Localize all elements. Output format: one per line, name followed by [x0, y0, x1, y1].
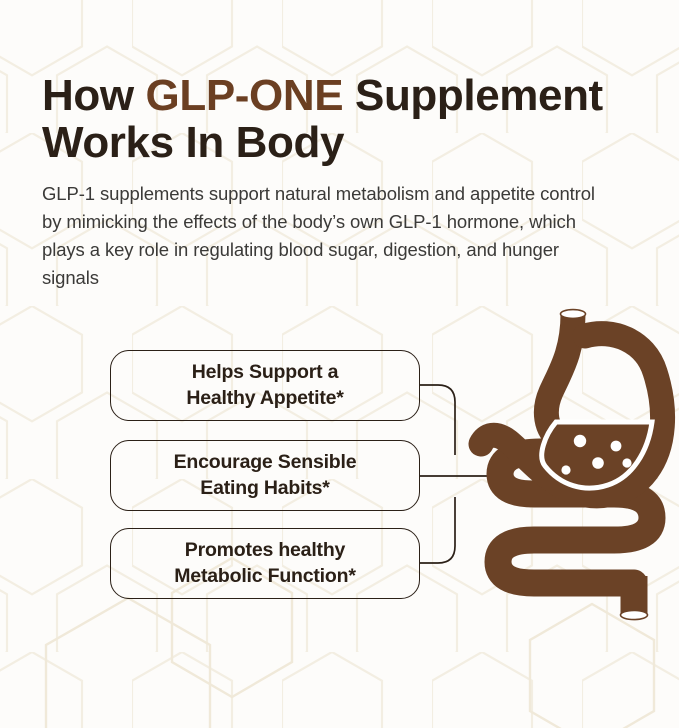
page-title-prefix: How [42, 71, 146, 120]
benefit-card-label: Encourage Sensible Eating Habits* [174, 450, 357, 501]
benefit-card-label: Helps Support a Healthy Appetite* [186, 360, 343, 411]
intro-paragraph: GLP-1 supplements support natural metabo… [42, 180, 616, 292]
benefit-card-sensible-eating: Encourage Sensible Eating Habits* [110, 440, 420, 511]
page-title: How GLP-ONE Supplement Works In Body [42, 72, 662, 166]
benefit-card-healthy-appetite: Helps Support a Healthy Appetite* [110, 350, 420, 421]
benefit-card-metabolic-function: Promotes healthy Metabolic Function* [110, 528, 420, 599]
benefit-card-label: Promotes healthy Metabolic Function* [174, 538, 355, 589]
page-title-accent: GLP-ONE [146, 71, 344, 120]
